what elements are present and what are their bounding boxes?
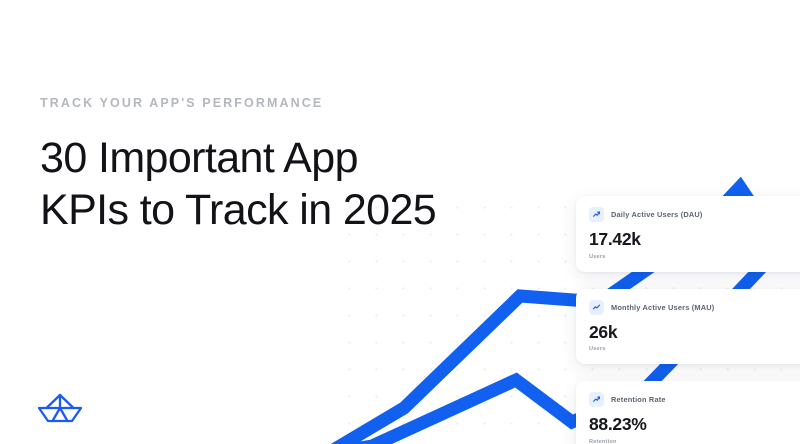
hero-banner: TRACK YOUR APP'S PERFORMANCE 30 Importan… bbox=[0, 0, 800, 444]
paper-boat-logo bbox=[36, 390, 84, 428]
trend-line-icon bbox=[589, 300, 604, 315]
page-title: 30 Important App KPIs to Track in 2025 bbox=[40, 132, 560, 237]
hero-copy: TRACK YOUR APP'S PERFORMANCE 30 Importan… bbox=[40, 96, 560, 237]
trend-up-icon bbox=[589, 207, 604, 222]
kpi-card-value: 26k bbox=[589, 324, 800, 342]
kpi-card-list: Daily Active Users (DAU) 17.42k Users Mo… bbox=[576, 196, 800, 444]
kpi-card[interactable]: Daily Active Users (DAU) 17.42k Users bbox=[576, 196, 800, 272]
kpi-card-unit: Users bbox=[589, 346, 800, 352]
kpi-card[interactable]: Monthly Active Users (MAU) 26k Users bbox=[576, 289, 800, 365]
trend-up-icon bbox=[589, 392, 604, 407]
kpi-card-unit: Retention bbox=[589, 439, 800, 444]
kpi-card-value: 17.42k bbox=[589, 231, 800, 249]
kpi-card-title: Daily Active Users (DAU) bbox=[611, 210, 703, 219]
kpi-card-title: Monthly Active Users (MAU) bbox=[611, 303, 714, 312]
kpi-card-title: Retention Rate bbox=[611, 395, 666, 404]
kpi-card-unit: Users bbox=[589, 254, 800, 260]
kpi-card-header: Monthly Active Users (MAU) bbox=[589, 300, 800, 315]
kpi-card-header: Daily Active Users (DAU) bbox=[589, 207, 800, 222]
eyebrow-label: TRACK YOUR APP'S PERFORMANCE bbox=[40, 96, 560, 111]
kpi-card-header: Retention Rate bbox=[589, 392, 800, 407]
kpi-card-value: 88.23% bbox=[589, 416, 800, 434]
kpi-card[interactable]: Retention Rate 88.23% Retention bbox=[576, 381, 800, 444]
